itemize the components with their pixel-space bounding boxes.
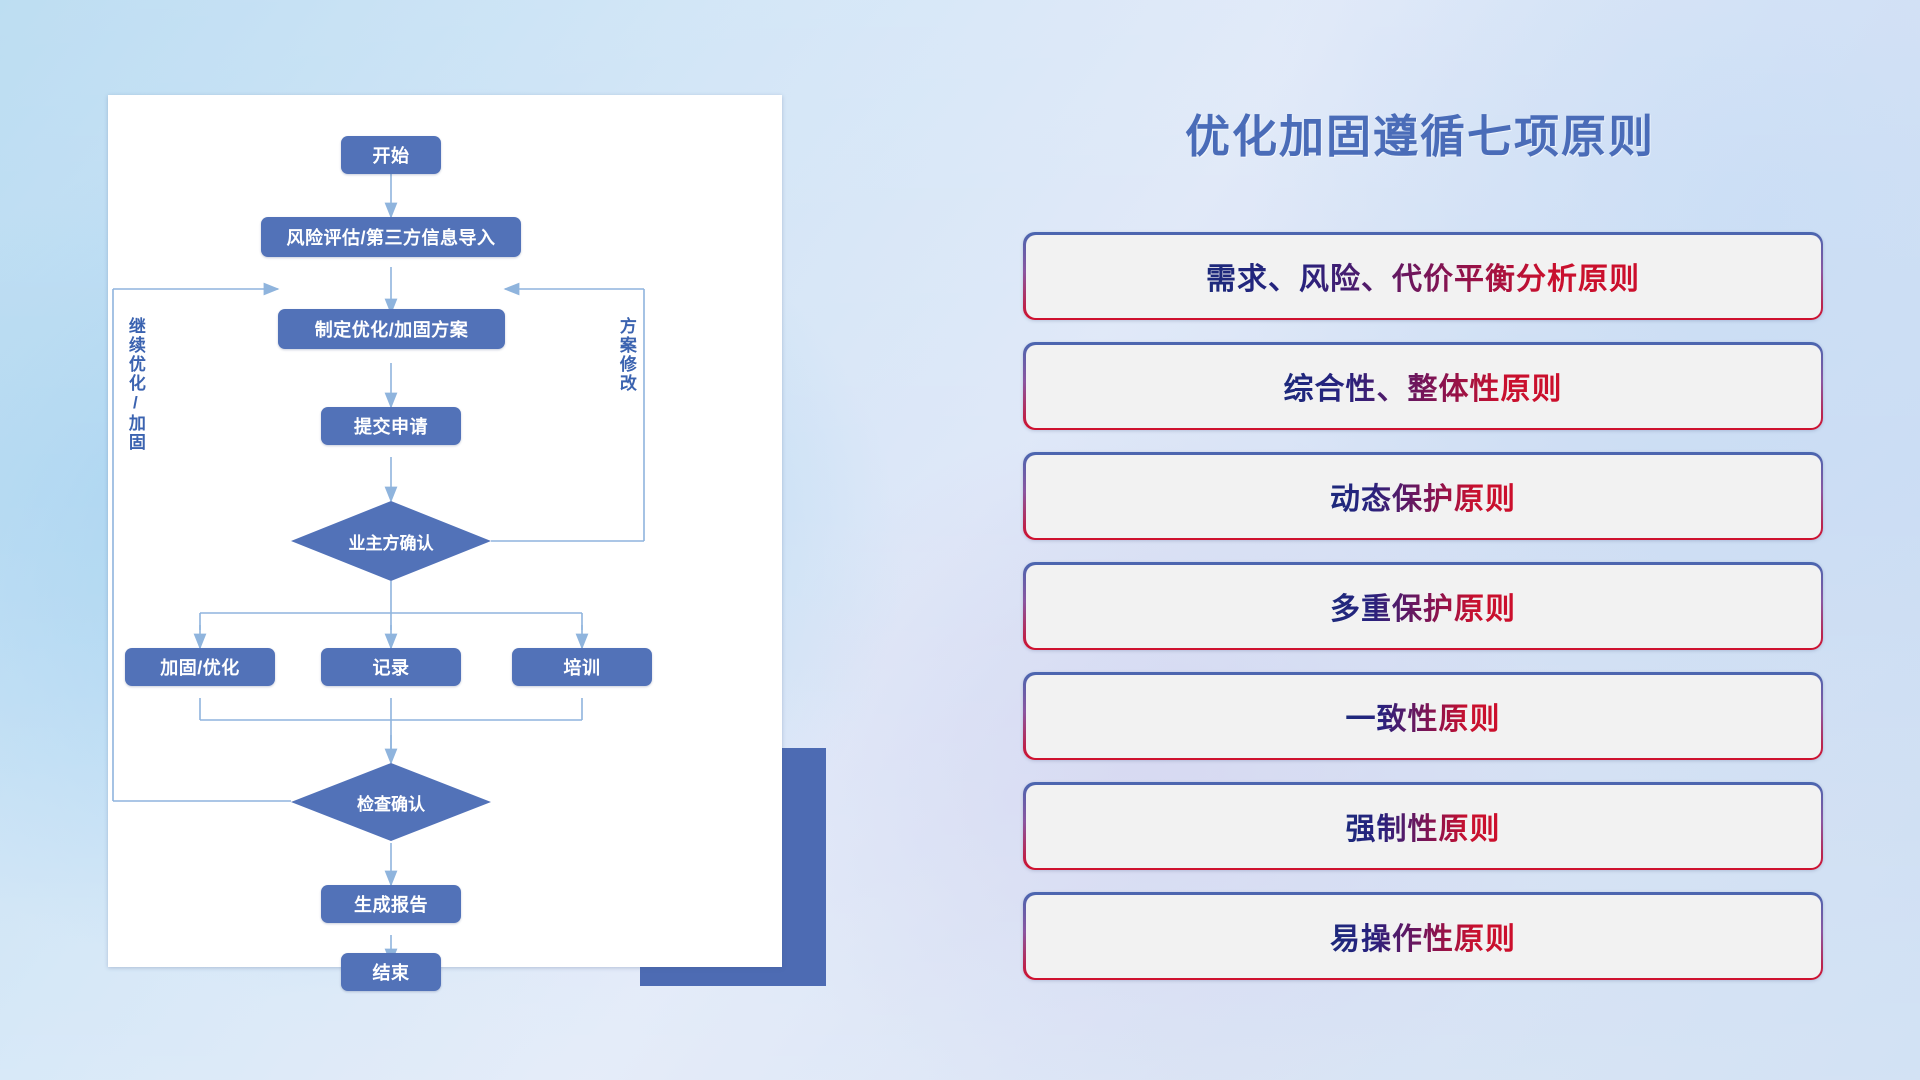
principle-label: 综合性、整体性原则 — [1284, 364, 1563, 408]
principle-label: 动态保护原则 — [1330, 474, 1516, 518]
flow-node-submit-application[interactable]: 提交申请 — [321, 407, 461, 445]
principle-card-4[interactable]: 多重保护原则 — [1023, 562, 1823, 650]
principle-card-2[interactable]: 综合性、整体性原则 — [1023, 342, 1823, 430]
flow-node-risk-assessment-label: 风险评估/第三方信息导入 — [287, 224, 496, 250]
page-title: 优化加固遵循七项原则 — [1020, 100, 1820, 165]
flow-edge-label-left-loop: 继续优化/加固 — [126, 317, 144, 452]
flow-node-end[interactable]: 结束 — [341, 953, 441, 991]
flow-node-end-label: 结束 — [373, 959, 410, 985]
principle-card-inner: 强制性原则 — [1026, 785, 1821, 868]
principle-card-inner: 一致性原则 — [1026, 675, 1821, 758]
principle-card-1[interactable]: 需求、风险、代价平衡分析原则 — [1023, 232, 1823, 320]
flow-node-training-label: 培训 — [564, 654, 601, 680]
flow-node-generate-report-label: 生成报告 — [354, 891, 428, 917]
principle-card-inner: 综合性、整体性原则 — [1026, 345, 1821, 428]
flow-node-start[interactable]: 开始 — [341, 136, 441, 174]
flow-node-owner-confirm[interactable]: 业主方确认 — [291, 501, 491, 581]
flow-node-owner-confirm-label: 业主方确认 — [349, 529, 434, 554]
principle-card-inner: 需求、风险、代价平衡分析原则 — [1026, 235, 1821, 318]
principle-label: 多重保护原则 — [1330, 584, 1516, 628]
flow-node-check-confirm-label: 检查确认 — [357, 790, 425, 815]
flow-node-submit-application-label: 提交申请 — [354, 413, 428, 439]
principle-card-inner: 动态保护原则 — [1026, 455, 1821, 538]
principle-label: 需求、风险、代价平衡分析原则 — [1206, 254, 1640, 298]
principle-label: 强制性原则 — [1346, 804, 1501, 848]
flow-node-record-label: 记录 — [373, 654, 410, 680]
principle-card-6[interactable]: 强制性原则 — [1023, 782, 1823, 870]
flow-node-reinforce-optimize-label: 加固/优化 — [160, 654, 240, 680]
principle-card-5[interactable]: 一致性原则 — [1023, 672, 1823, 760]
flow-node-risk-assessment[interactable]: 风险评估/第三方信息导入 — [261, 217, 521, 257]
flow-node-record[interactable]: 记录 — [321, 648, 461, 686]
principle-card-7[interactable]: 易操作性原则 — [1023, 892, 1823, 980]
flow-node-make-plan[interactable]: 制定优化/加固方案 — [278, 309, 505, 349]
principle-card-inner: 易操作性原则 — [1026, 895, 1821, 978]
principles-list: 需求、风险、代价平衡分析原则 综合性、整体性原则 动态保护原则 多重保护原则 一… — [1023, 232, 1823, 1002]
principle-label: 易操作性原则 — [1330, 914, 1516, 958]
flow-node-start-label: 开始 — [373, 142, 410, 168]
flow-edge-label-right-loop: 方案修改 — [617, 317, 635, 393]
flow-node-training[interactable]: 培训 — [512, 648, 652, 686]
principle-card-3[interactable]: 动态保护原则 — [1023, 452, 1823, 540]
flowchart-panel: 开始 风险评估/第三方信息导入 制定优化/加固方案 提交申请 业主方确认 加固/… — [108, 95, 782, 967]
flow-node-reinforce-optimize[interactable]: 加固/优化 — [125, 648, 275, 686]
flow-node-check-confirm[interactable]: 检查确认 — [291, 763, 491, 841]
flow-node-make-plan-label: 制定优化/加固方案 — [315, 316, 469, 342]
flow-node-generate-report[interactable]: 生成报告 — [321, 885, 461, 923]
principle-label: 一致性原则 — [1346, 694, 1501, 738]
principle-card-inner: 多重保护原则 — [1026, 565, 1821, 648]
flowchart-canvas: 开始 风险评估/第三方信息导入 制定优化/加固方案 提交申请 业主方确认 加固/… — [108, 95, 782, 967]
